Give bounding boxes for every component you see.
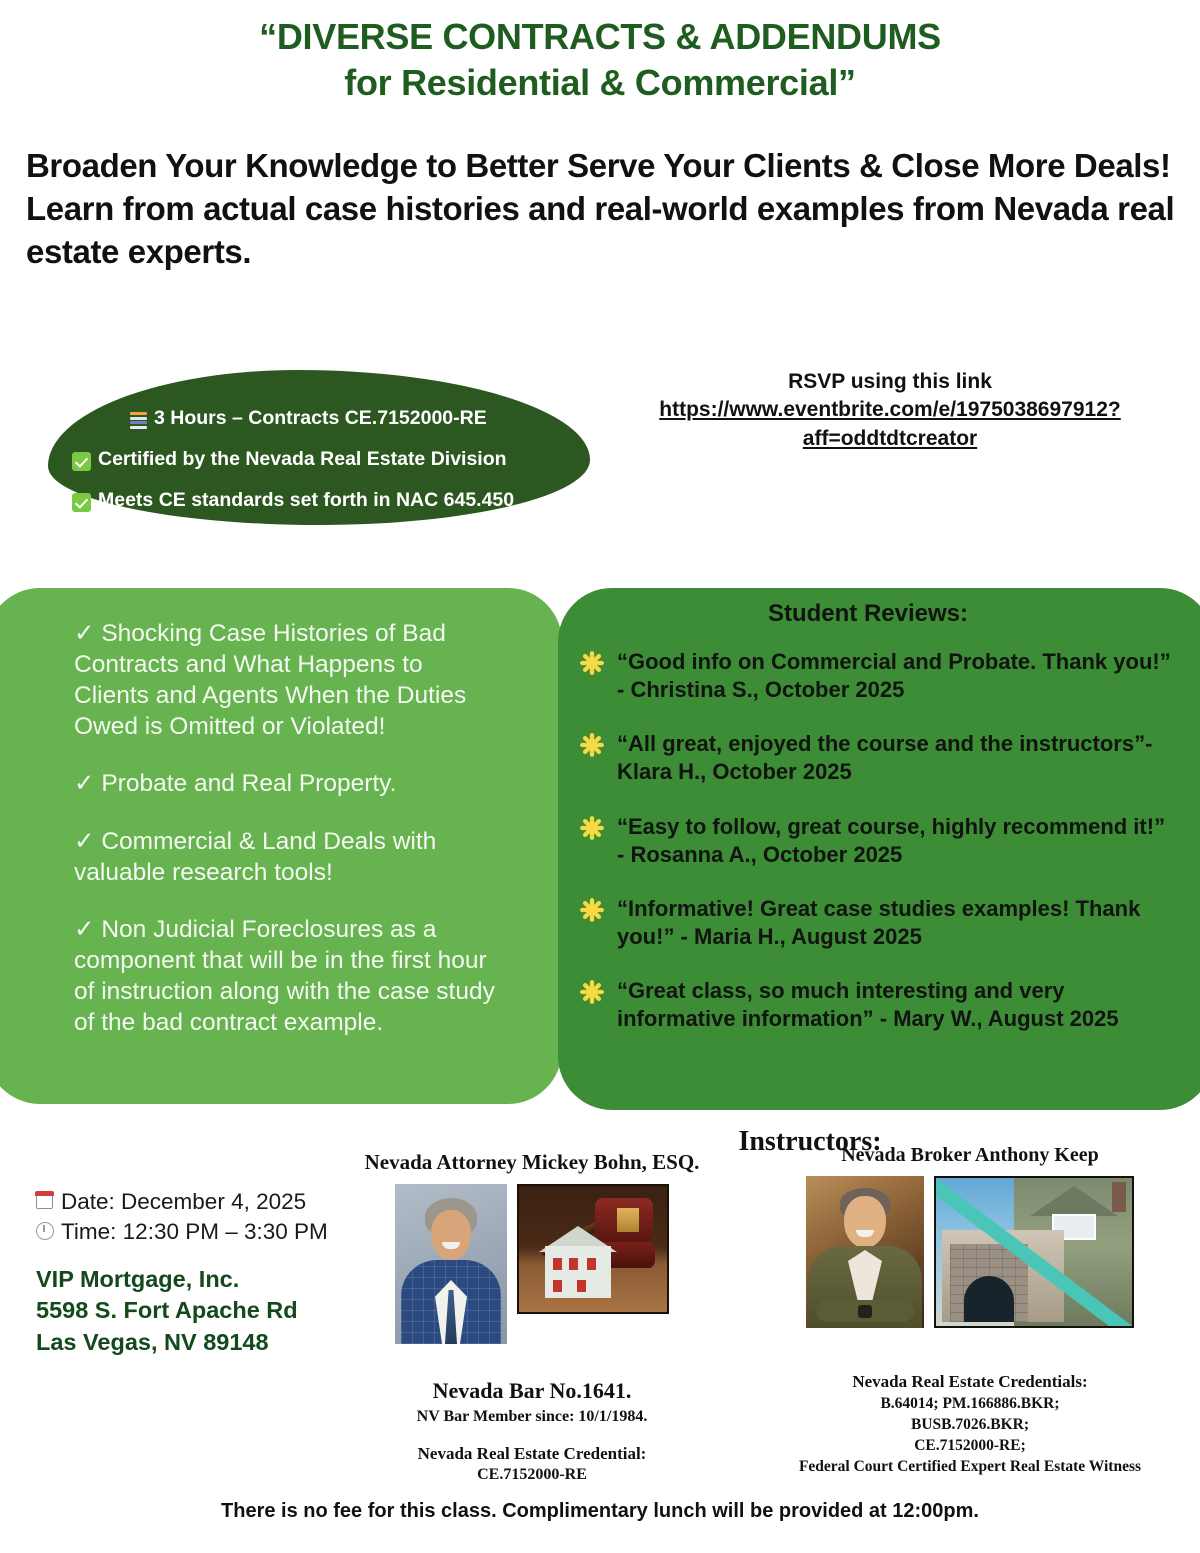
instructor-two-cred-4: Federal Court Certified Expert Real Esta…: [770, 1458, 1170, 1476]
review-item: “Easy to follow, great course, highly re…: [575, 813, 1175, 869]
badge-certified-label: Certified by the Nevada Real Estate Divi…: [98, 450, 507, 470]
badge-hours-label: 3 Hours – Contracts CE.7152000-RE: [154, 409, 487, 429]
instructor-two-cred-3: CE.7152000-RE;: [770, 1437, 1170, 1455]
badge-row-certified: Certified by the Nevada Real Estate Divi…: [72, 439, 582, 480]
sparkle-icon: [579, 897, 605, 923]
badge-row-hours: 3 Hours – Contracts CE.7152000-RE: [72, 398, 582, 439]
review-text: “Informative! Great case studies example…: [617, 896, 1140, 949]
certification-badge-lines: 3 Hours – Contracts CE.7152000-RE Certif…: [72, 398, 582, 521]
instructor-one-cred-value: CE.7152000-RE: [352, 1466, 712, 1484]
instructor-card-one: Nevada Attorney Mickey Bohn, ESQ.: [352, 1150, 712, 1344]
event-datetime: Date: December 4, 2025 Time: 12:30 PM – …: [36, 1187, 366, 1246]
instructor-one-cred-head: Nevada Real Estate Credential:: [352, 1444, 712, 1464]
subheadline: Broaden Your Knowledge to Better Serve Y…: [26, 145, 1186, 274]
clock-icon: [36, 1222, 54, 1240]
instructor-card-two: Nevada Broker Anthony Keep: [770, 1144, 1170, 1328]
review-item: “Informative! Great case studies example…: [575, 895, 1175, 951]
topic-item: ✓ Non Judicial Foreclosures as a compone…: [74, 914, 504, 1038]
review-item: “Good info on Commercial and Probate. Th…: [575, 648, 1175, 704]
review-item: “Great class, so much interesting and ve…: [575, 977, 1175, 1033]
venue-address: VIP Mortgage, Inc. 5598 S. Fort Apache R…: [36, 1264, 376, 1358]
instructor-two-cred-1: B.64014; PM.166886.BKR;: [770, 1395, 1170, 1413]
event-time-label: Time: 12:30 PM – 3:30 PM: [61, 1217, 328, 1247]
topic-item: ✓ Commercial & Land Deals with valuable …: [74, 826, 504, 888]
instructor-two-cred-head: Nevada Real Estate Credentials:: [770, 1372, 1170, 1392]
review-text: “Easy to follow, great course, highly re…: [617, 814, 1165, 867]
topic-item: ✓ Shocking Case Histories of Bad Contrac…: [74, 618, 504, 742]
fee-footnote: There is no fee for this class. Complime…: [0, 1500, 1200, 1523]
event-time-row: Time: 12:30 PM – 3:30 PM: [36, 1217, 366, 1247]
venue-street: 5598 S. Fort Apache Rd: [36, 1295, 376, 1326]
reviews-title: Student Reviews:: [558, 600, 1178, 628]
sparkle-icon: [579, 815, 605, 841]
review-text: “All great, enjoyed the course and the i…: [617, 731, 1152, 784]
instructor-one-credentials: Nevada Bar No.1641. NV Bar Member since:…: [352, 1378, 712, 1484]
page-title-line2: for Residential & Commercial”: [0, 60, 1200, 106]
reviews-list: “Good info on Commercial and Probate. Th…: [575, 648, 1175, 1034]
gavel-and-house-photo: [517, 1184, 669, 1314]
sparkle-icon: [579, 732, 605, 758]
instructor-two-credentials: Nevada Real Estate Credentials: B.64014;…: [770, 1372, 1170, 1476]
topics-list: ✓ Shocking Case Histories of Bad Contrac…: [74, 618, 504, 1038]
venue-city: Las Vegas, NV 89148: [36, 1327, 376, 1358]
instructor-two-name: Nevada Broker Anthony Keep: [770, 1144, 1170, 1167]
instructor-one-photos: [352, 1184, 712, 1344]
sparkle-icon: [579, 650, 605, 676]
event-date-label: Date: December 4, 2025: [61, 1187, 306, 1217]
event-date-row: Date: December 4, 2025: [36, 1187, 366, 1217]
badge-standards-label: Meets CE standards set forth in NAC 645.…: [98, 491, 514, 511]
calendar-icon: [36, 1192, 53, 1209]
instructor-one-headshot-photo: [395, 1184, 507, 1344]
instructor-one-bar-member: NV Bar Member since: 10/1/1984.: [352, 1408, 712, 1426]
rsvp-label: RSVP using this link: [788, 370, 992, 393]
check-mark-icon: [72, 493, 91, 512]
review-item: “All great, enjoyed the course and the i…: [575, 730, 1175, 786]
rsvp-block: RSVP using this link https://www.eventbr…: [600, 368, 1180, 453]
badge-row-standards: Meets CE standards set forth in NAC 645.…: [72, 480, 582, 521]
review-text: “Great class, so much interesting and ve…: [617, 978, 1119, 1031]
instructor-one-bar-no: Nevada Bar No.1641.: [352, 1378, 712, 1404]
instructor-two-headshot-photo: [806, 1176, 924, 1328]
instructor-one-name: Nevada Attorney Mickey Bohn, ESQ.: [352, 1150, 712, 1175]
venue-name: VIP Mortgage, Inc.: [36, 1264, 376, 1295]
rsvp-link[interactable]: https://www.eventbrite.com/e/19750386979…: [600, 396, 1180, 453]
check-mark-icon: [72, 452, 91, 471]
instructor-two-cred-2: BUSB.7026.BKR;: [770, 1416, 1170, 1434]
instructor-two-photos: [770, 1176, 1170, 1328]
review-text: “Good info on Commercial and Probate. Th…: [617, 649, 1171, 702]
page-title-line1: “DIVERSE CONTRACTS & ADDENDUMS: [259, 16, 941, 57]
topic-item: ✓ Probate and Real Property.: [74, 768, 504, 799]
commercial-residential-split-photo: [934, 1176, 1134, 1328]
page-title: “DIVERSE CONTRACTS & ADDENDUMS for Resid…: [0, 14, 1200, 106]
sparkle-icon: [579, 979, 605, 1005]
books-icon: [130, 412, 147, 429]
